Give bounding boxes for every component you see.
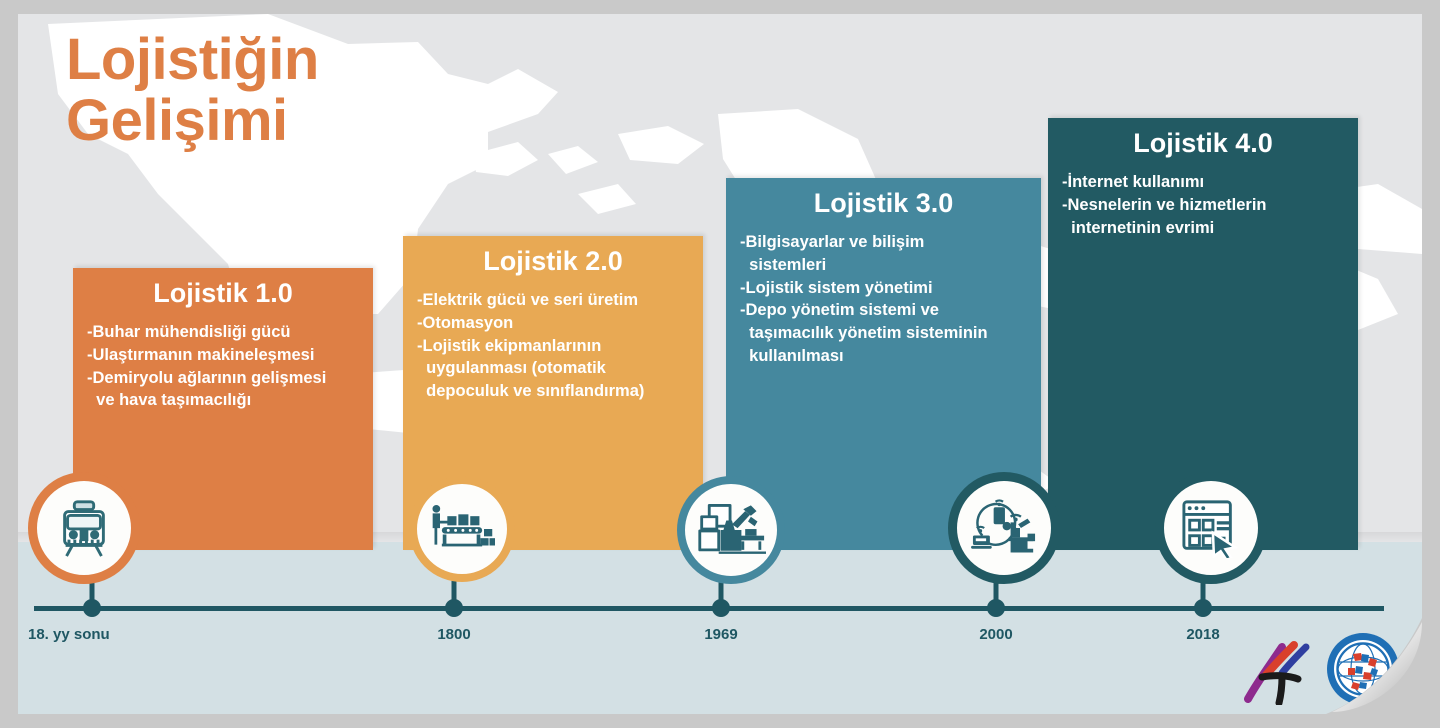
stage-bullets-4: -İnternet kullanımı -Nesnelerin ve hizme… (1048, 159, 1358, 239)
bullet: -Nesnelerin ve hizmetlerin (1062, 194, 1348, 217)
bullet: kullanılması (740, 345, 1031, 368)
stage-bullets-3: -Bilgisayarlar ve bilişim sistemleri -Lo… (726, 219, 1041, 368)
page-curl (1326, 618, 1422, 714)
stage-title-2: Lojistik 2.0 (403, 236, 703, 277)
bullet: ve hava taşımacılığı (87, 389, 363, 412)
timeline-node-1[interactable]: 18. yy sonu (52, 608, 132, 668)
badge-conveyor[interactable] (409, 476, 515, 582)
bullet: -Lojistik sistem yönetimi (740, 277, 1031, 300)
timeline-node-3[interactable]: 1969 (691, 608, 751, 668)
bullet: -Demiryolu ağlarının gelişmesi (87, 367, 363, 390)
brand-k-logo (1236, 633, 1314, 705)
bullet: sistemleri (740, 254, 1031, 277)
bullet: -Otomasyon (417, 312, 693, 335)
timeline-node-4[interactable]: 2000 (966, 608, 1026, 668)
badge-iot[interactable] (948, 472, 1060, 584)
train-icon (53, 497, 115, 559)
stage-title-1: Lojistik 1.0 (73, 268, 373, 309)
bullet: uygulanması (otomatik (417, 357, 693, 380)
robot-arm-icon (696, 499, 766, 561)
bullet: -Elektrik gücü ve seri üretim (417, 289, 693, 312)
stage-title-4: Lojistik 4.0 (1048, 118, 1358, 159)
title-line-1: Lojistiğin (66, 30, 319, 91)
timeline-year-2: 1800 (437, 626, 470, 643)
badge-train[interactable] (28, 472, 140, 584)
bullet: taşımacılık yönetim sisteminin (740, 322, 1031, 345)
timeline-node-2[interactable]: 1800 (424, 608, 484, 668)
timeline-year-5: 2018 (1186, 626, 1219, 643)
bullet: -Ulaştırmanın makineleşmesi (87, 344, 363, 367)
bullet: -Bilgisayarlar ve bilişim (740, 231, 1031, 254)
iot-network-icon (969, 496, 1039, 560)
bullet: -İnternet kullanımı (1062, 171, 1348, 194)
stage-title-3: Lojistik 3.0 (726, 178, 1041, 219)
timeline-year-3: 1969 (704, 626, 737, 643)
node-dot (83, 599, 101, 617)
badge-robot-arm[interactable] (677, 476, 785, 584)
infographic-canvas: Lojistiğin Gelişimi Lojistik 1.0 -Buhar … (0, 0, 1440, 728)
bullet: depoculuk ve sınıflandırma) (417, 380, 693, 403)
node-dot (1194, 599, 1212, 617)
conveyor-belt-icon (429, 500, 495, 558)
timeline-year-1: 18. yy sonu (28, 626, 110, 643)
timeline-node-5[interactable]: 2018 (1173, 608, 1233, 668)
timeline-year-4: 2000 (979, 626, 1012, 643)
node-dot (987, 599, 1005, 617)
bullet: -Depo yönetim sistemi ve (740, 299, 1031, 322)
title-line-2: Gelişimi (66, 91, 319, 152)
browser-cursor-icon (1179, 498, 1243, 558)
page-title: Lojistiğin Gelişimi (66, 30, 319, 152)
bullet: -Buhar mühendisliği gücü (87, 321, 363, 344)
node-dot (445, 599, 463, 617)
node-dot (712, 599, 730, 617)
badge-browser[interactable] (1155, 472, 1267, 584)
slide: Lojistiğin Gelişimi Lojistik 1.0 -Buhar … (18, 14, 1422, 714)
stage-bullets-1: -Buhar mühendisliği gücü -Ulaştırmanın m… (73, 309, 373, 412)
stage-bullets-2: -Elektrik gücü ve seri üretim -Otomasyon… (403, 277, 703, 403)
bullet: -Lojistik ekipmanlarının (417, 335, 693, 358)
bullet: internetinin evrimi (1062, 217, 1348, 240)
